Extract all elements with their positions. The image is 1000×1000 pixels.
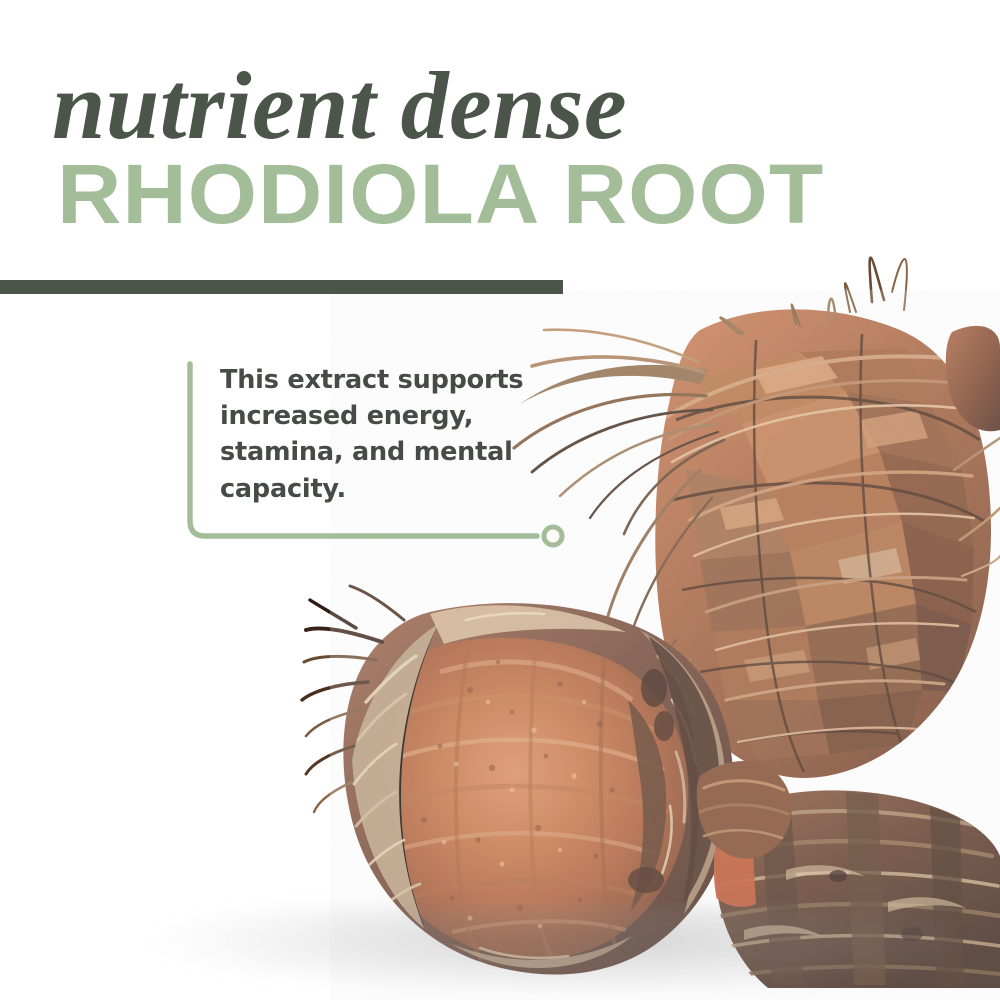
headline-script-line: nutrient dense [52,58,627,154]
benefit-callout: This extract supports increased energy, … [183,358,573,553]
root-piece-small-mid [697,761,792,859]
product-graphic-canvas: nutrient dense RHODIOLA ROOT This extrac… [0,0,1000,1000]
headline-divider-rule [0,280,563,294]
benefit-body-text: This extract supports increased energy, … [220,362,530,507]
contact-shadow [150,905,950,995]
root-piece-top-right [514,258,1000,778]
headline-product-name: RHODIOLA ROOT [57,152,824,236]
